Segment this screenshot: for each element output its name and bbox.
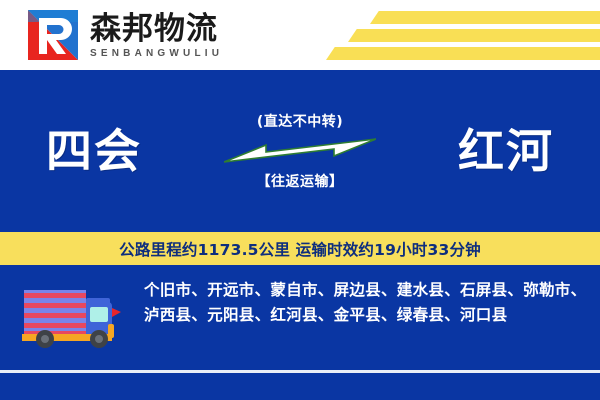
- route-panel: 四会 (直达不中转) 【往返运输】 红河: [0, 70, 600, 232]
- route-note-top: (直达不中转): [257, 111, 343, 131]
- distance-duration-bar: 公路里程约1173.5公里 运输时效约19小时33分钟: [0, 232, 600, 265]
- coverage-areas-text: 个旧市、开远市、蒙自市、屏边县、建水县、石屏县、弥勒市、泸西县、元阳县、红河县、…: [144, 278, 588, 328]
- stripe-1: [370, 11, 600, 24]
- brand-text-block: 森邦物流 SENBANGWULIU: [90, 11, 223, 60]
- brand-name-en: SENBANGWULIU: [90, 48, 223, 59]
- footer-panel: [0, 373, 600, 400]
- delivery-truck-icon: [20, 286, 132, 348]
- header-stripes-decoration: [310, 0, 600, 70]
- stripe-3: [326, 47, 600, 60]
- brand-lockup: 森邦物流 SENBANGWULIU: [26, 8, 223, 62]
- destination-city-label: 红河: [458, 128, 554, 174]
- route-row: 四会 (直达不中转) 【往返运输】 红河: [0, 70, 600, 232]
- route-arrow-block: (直达不中转) 【往返运输】: [213, 96, 388, 206]
- senbang-r-logo-icon: [26, 8, 80, 62]
- stripe-2: [348, 29, 600, 42]
- origin-city-label: 四会: [46, 128, 142, 174]
- brand-name-cn: 森邦物流: [90, 13, 223, 46]
- distance-duration-text: 公路里程约1173.5公里 运输时效约19小时33分钟: [119, 238, 481, 260]
- header-bar: 森邦物流 SENBANGWULIU: [0, 0, 600, 70]
- logistics-route-poster: 森邦物流 SENBANGWULIU 四会 (直达不中转) 【往返运输】: [0, 0, 600, 400]
- route-note-bottom: 【往返运输】: [257, 171, 344, 191]
- bidirectional-arrow-icon: [224, 135, 376, 165]
